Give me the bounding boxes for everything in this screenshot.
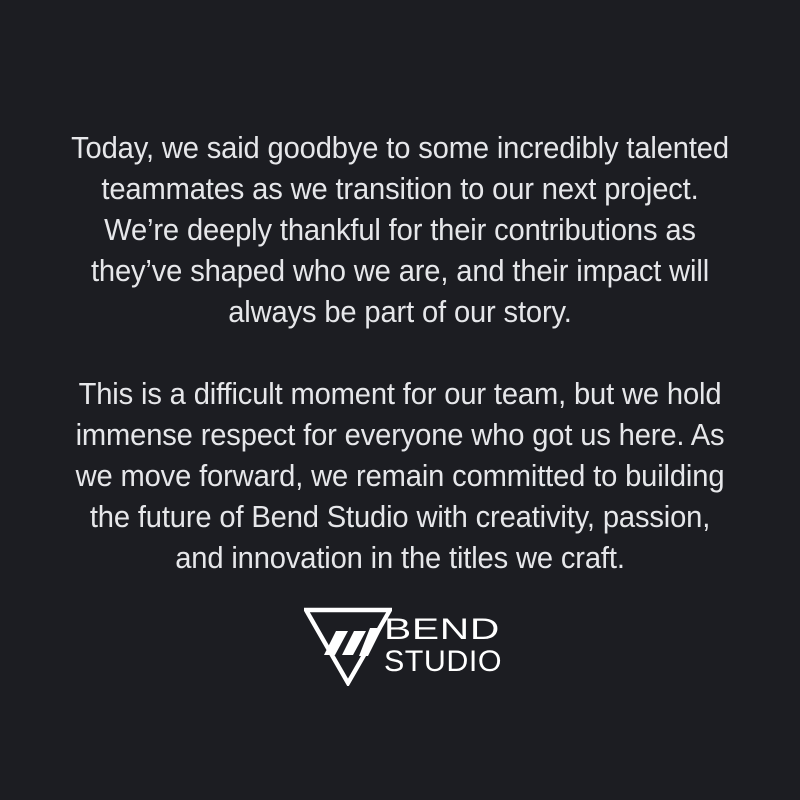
statement-text-block: Today, we said goodbye to some incredibl… [40, 128, 760, 579]
logo-lockup-inner: BEND STUDIO [300, 600, 500, 692]
bend-studio-logo: BEND STUDIO [0, 600, 800, 700]
statement-paragraph-2: This is a difficult moment for our team,… [56, 374, 744, 579]
bend-studio-wordmark: BEND STUDIO [384, 613, 504, 683]
wordmark-line-studio: STUDIO [384, 645, 502, 678]
statement-card: Today, we said goodbye to some incredibl… [0, 0, 800, 800]
statement-paragraph-1: Today, we said goodbye to some incredibl… [56, 128, 744, 333]
wordmark-line-bend: BEND [384, 613, 500, 646]
bend-studio-triangle-icon [304, 606, 392, 686]
